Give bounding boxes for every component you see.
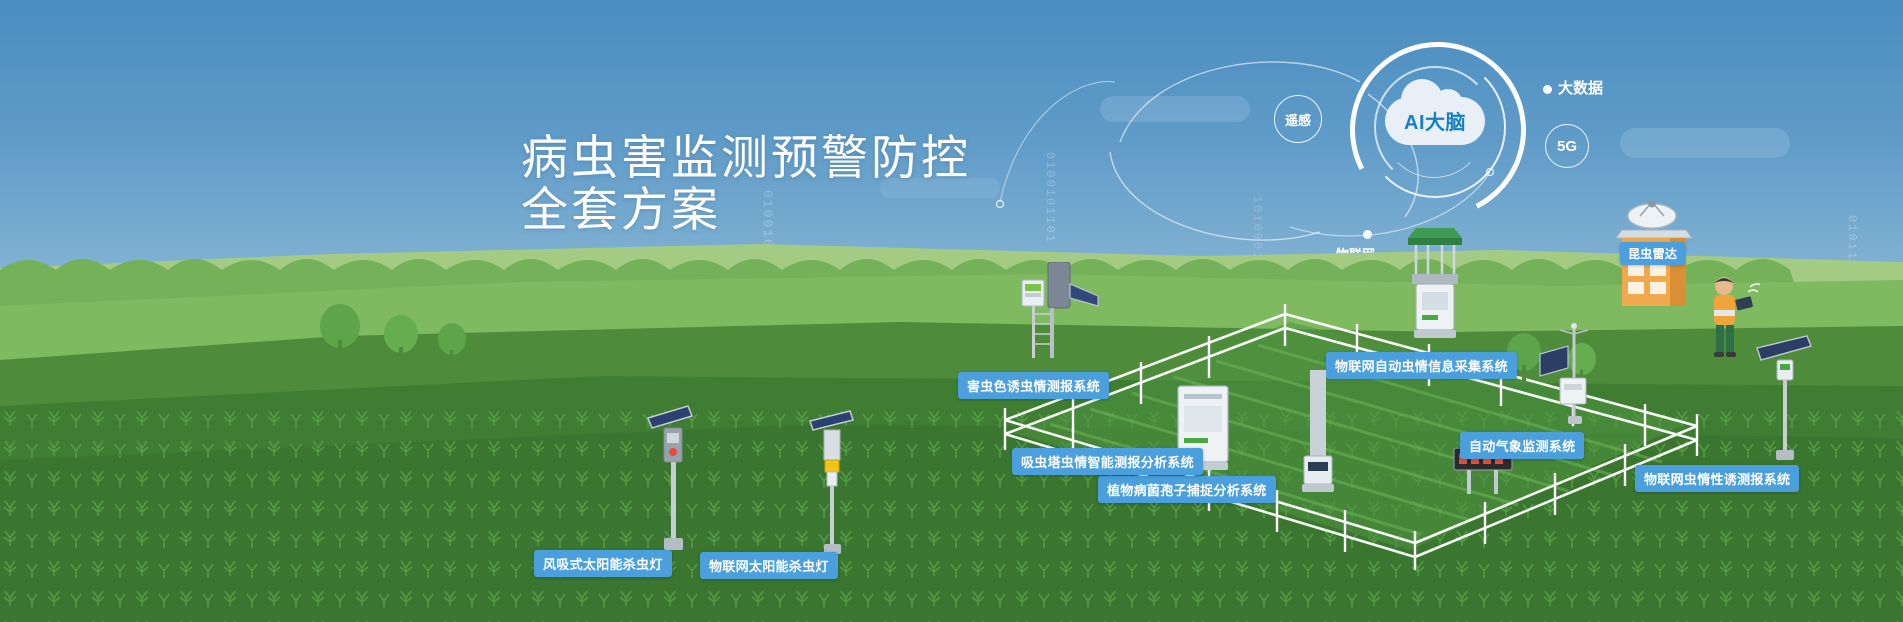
- pest-monitoring-banner: 010010011010 0100101101 10100010101 0101…: [0, 0, 1903, 622]
- device-sprite: [1390, 222, 1480, 352]
- device-automatic-weather-monitoring-system[interactable]: 自动气象监测系统: [1530, 320, 1620, 445]
- node-big-data-dot: [1543, 85, 1552, 94]
- ai-brain-label: AI大脑: [1385, 106, 1485, 135]
- device-label[interactable]: 风吸式太阳能杀虫灯: [534, 550, 672, 577]
- device-label[interactable]: 自动气象监测系统: [1460, 432, 1584, 459]
- device-sprite: [1000, 262, 1110, 372]
- device-sprite: [640, 400, 710, 560]
- device-iot-solar-insect-lamp[interactable]: 物联网太阳能杀虫灯: [800, 405, 870, 565]
- node-5g[interactable]: 5G: [1545, 124, 1589, 168]
- device-pest-color-lure-forecast-system[interactable]: 害虫色诱虫情测报系统: [1000, 262, 1110, 377]
- node-remote-sensing[interactable]: 遥感: [1274, 95, 1322, 143]
- device-sprite: [800, 405, 870, 560]
- cloud-2: [1620, 128, 1790, 158]
- device-label[interactable]: 物联网虫情性诱测报系统: [1635, 465, 1799, 492]
- device-label[interactable]: 物联网太阳能杀虫灯: [700, 552, 838, 579]
- device-wind-suction-solar-insect-lamp[interactable]: 风吸式太阳能杀虫灯: [640, 400, 710, 565]
- device-suction-tower-pest-intelligent-forecast-analysis-system[interactable]: 吸虫塔虫情智能测报分析系统: [1290, 370, 1350, 505]
- device-label[interactable]: 害虫色诱虫情测报系统: [958, 372, 1109, 399]
- device-sprite: [1290, 370, 1350, 500]
- ai-brain-hub: AI大脑 遥感 大数据 5G 物联网: [1350, 42, 1520, 212]
- device-label[interactable]: 物联网自动虫情信息采集系统: [1326, 352, 1517, 379]
- device-label[interactable]: 吸虫塔虫情智能测报分析系统: [1012, 448, 1203, 475]
- device-iot-automatic-pest-info-collection-system[interactable]: 物联网自动虫情信息采集系统: [1390, 222, 1480, 357]
- title-line-1: 病虫害监测预警防控: [521, 132, 971, 184]
- field-worker-with-tablet: [1690, 272, 1760, 362]
- tree-icon: [430, 320, 474, 366]
- tree-icon: [310, 300, 370, 360]
- device-label[interactable]: 昆虫雷达: [1620, 242, 1685, 265]
- device-sprite: [1530, 320, 1620, 440]
- node-big-data-label[interactable]: 大数据: [1558, 77, 1603, 98]
- device-label[interactable]: 植物病菌孢子捕捉分析系统: [1098, 476, 1276, 503]
- tree-icon: [375, 312, 427, 364]
